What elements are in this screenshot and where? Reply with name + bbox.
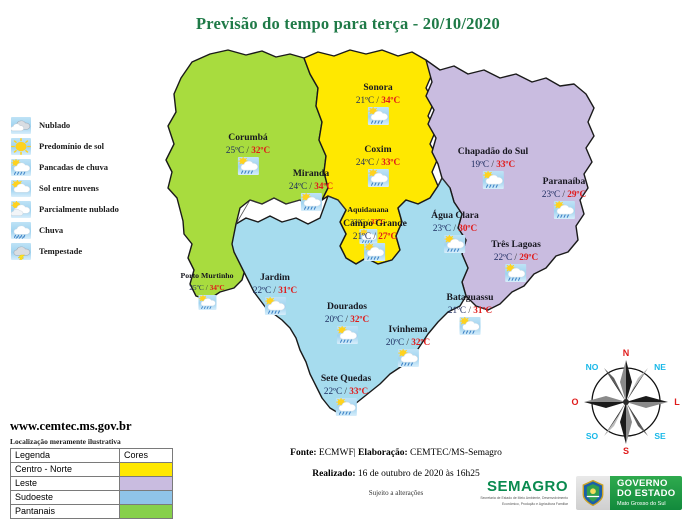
legend-label: Tempestade <box>39 246 82 256</box>
temp-separator: / <box>371 231 378 241</box>
legend-row-predom-nio-de-sol: Predomínio de sol <box>11 137 119 155</box>
cloudy-icon <box>11 117 31 134</box>
region-color-swatch <box>120 463 173 477</box>
city-temperatures: 21ºC / 34ºC <box>356 94 400 106</box>
temp-min: 24ºC <box>356 157 374 167</box>
weather-condition-legend: NubladoPredomínio de solPancadas de chuv… <box>11 116 119 260</box>
compass-label-o: O <box>571 397 578 407</box>
region-name-cell: Leste <box>11 477 120 491</box>
rain-showers-icon <box>198 295 216 310</box>
page-title: Previsão do tempo para terça - 20/10/202… <box>0 14 696 34</box>
elaboracao-value: CEMTEC/MS-Semagro <box>410 448 502 458</box>
city-forecast-porto-murtinho: Porto Murtinho25ºC / 34ºC <box>180 270 233 315</box>
legend-row-pancadas-de-chuva: Pancadas de chuva <box>11 158 119 176</box>
city-forecast-campo-grande: Campo Grande21ºC / 27ºC <box>343 218 407 266</box>
rain-showers-icon <box>482 171 503 189</box>
temp-min: 23ºC <box>542 189 560 199</box>
table-row: Pantanais <box>11 505 173 519</box>
temp-min: 21ºC <box>448 305 466 315</box>
legend-label: Predomínio de sol <box>39 141 104 151</box>
city-forecast-sete-quedas: Sete Quedas22ºC / 33ºC <box>321 373 371 421</box>
temp-min: 23ºC <box>433 223 451 233</box>
region-color-legend-table: LegendaCoresCentro - NorteLesteSudoesteP… <box>10 448 173 519</box>
realizado-value: 16 de outubro de 2020 às 16h25 <box>358 469 480 479</box>
city-name: Bataguassu <box>447 292 494 304</box>
temp-separator: / <box>512 252 519 262</box>
table-row: Leste <box>11 477 173 491</box>
temp-max: 34ºC <box>314 181 333 191</box>
city-name: Miranda <box>289 168 333 180</box>
city-temperatures: 23ºC / 29ºC <box>542 188 586 200</box>
city-name: Campo Grande <box>343 218 407 230</box>
city-temperatures: 25ºC / 34ºC <box>180 282 233 294</box>
city-forecast-tr-s-lagoas: Três Lagoas22ºC / 29ºC <box>491 239 541 287</box>
city-name: Jardim <box>253 272 297 284</box>
city-temperatures: 21ºC / 31ºC <box>447 304 494 316</box>
compass-label-n: N <box>623 348 630 358</box>
illustrative-location-note: Localização meramente ilustrativa <box>10 437 121 446</box>
rain-showers-icon <box>554 201 575 219</box>
city-temperatures: 21ºC / 27ºC <box>343 230 407 242</box>
rain-showers-icon <box>265 297 286 315</box>
governo-do-estado-logo: GOVERNO DO ESTADO Mato Grosso do Sul <box>576 476 682 510</box>
partly-cloudy-icon <box>11 201 31 218</box>
temp-max: 27ºC <box>378 231 397 241</box>
temp-max: 29ºC <box>567 189 586 199</box>
temp-min: 22ºC <box>324 386 342 396</box>
city-forecast--gua-clara: Água Clara23ºC / 30ºC <box>431 210 479 258</box>
temp-max: 34ºC <box>381 95 400 105</box>
city-temperatures: 22ºC / 31ºC <box>253 284 297 296</box>
compass-label-se: SE <box>654 431 666 441</box>
city-forecast-parana-ba: Paranaíba23ºC / 29ºC <box>542 176 586 224</box>
legend-row-chuva: Chuva <box>11 221 119 239</box>
city-temperatures: 25ºC / 32ºC <box>226 144 270 156</box>
elaboracao-label: Elaboração: <box>358 448 408 458</box>
temp-max: 32ºC <box>411 337 430 347</box>
city-name: Três Lagoas <box>491 239 541 251</box>
gov-line-3: Mato Grosso do Sul <box>617 500 675 508</box>
city-forecast-sonora: Sonora21ºC / 34ºC <box>356 82 400 130</box>
city-temperatures: 24ºC / 34ºC <box>289 180 333 192</box>
city-name: Dourados <box>325 301 369 313</box>
temp-min: 19ºC <box>471 159 489 169</box>
state-coat-of-arms-icon <box>576 476 610 510</box>
temp-min: 25ºC <box>189 283 204 292</box>
city-temperatures: 19ºC / 33ºC <box>458 158 528 170</box>
cemtec-website-url[interactable]: www.cemtec.ms.gov.br <box>10 419 132 434</box>
temp-max: 33ºC <box>496 159 515 169</box>
city-name: Paranaíba <box>542 176 586 188</box>
compass-label-s: S <box>623 446 629 456</box>
rain-showers-icon <box>364 243 385 261</box>
legend-label: Pancadas de chuva <box>39 162 108 172</box>
city-temperatures: 23ºC / 30ºC <box>431 222 479 234</box>
temp-max: 29ºC <box>519 252 538 262</box>
city-forecast-coxim: Coxim24ºC / 33ºC <box>356 144 400 192</box>
compass-label-l: L <box>674 397 680 407</box>
legend-row-tempestade: Tempestade <box>11 242 119 260</box>
temp-min: 22ºC <box>253 285 271 295</box>
city-temperatures: 22ºC / 29ºC <box>491 251 541 263</box>
compass-label-so: SO <box>586 431 599 441</box>
temp-max: 30ºC <box>458 223 477 233</box>
weather-forecast-map-page: Previsão do tempo para terça - 20/10/202… <box>0 0 696 521</box>
rain-showers-icon <box>368 169 389 187</box>
temp-max: 34ºC <box>210 283 225 292</box>
compass-label-ne: NE <box>654 362 666 372</box>
institution-logos: SEMAGRO Secretaria de Estado de Meio Amb… <box>476 470 690 516</box>
city-temperatures: 20ºC / 32ºC <box>386 336 430 348</box>
temp-min: 25ºC <box>226 145 244 155</box>
thunderstorm-icon <box>11 243 31 260</box>
city-name: Aquidauana <box>347 204 388 216</box>
temp-max: 33ºC <box>381 157 400 167</box>
city-name: Coxim <box>356 144 400 156</box>
source-credit: Fonte: ECMWF| Elaboração: CEMTEC/MS-Sema… <box>246 448 546 458</box>
temp-max: 32ºC <box>350 314 369 324</box>
city-name: Ivinhema <box>386 324 430 336</box>
city-forecast-ivinhema: Ivinhema20ºC / 32ºC <box>386 324 430 372</box>
semagro-subtitle: Secretaria de Estado de Meio Ambiente, D… <box>476 496 568 506</box>
city-forecast-jardim: Jardim22ºC / 31ºC <box>253 272 297 320</box>
city-name: Sete Quedas <box>321 373 371 385</box>
sunny-icon <box>11 138 31 155</box>
temp-min: 24ºC <box>289 181 307 191</box>
rain-showers-icon <box>444 235 465 253</box>
city-forecast-dourados: Dourados20ºC / 32ºC <box>325 301 369 349</box>
legend-label: Chuva <box>39 225 63 235</box>
rain-showers-icon <box>368 107 389 125</box>
region-color-swatch <box>120 505 173 519</box>
region-name-cell: Centro - Norte <box>11 463 120 477</box>
city-forecast-chapad-o-do-sul: Chapadão do Sul19ºC / 33ºC <box>458 146 528 194</box>
semagro-wordmark: SEMAGRO <box>487 479 568 494</box>
table-header-row: LegendaCores <box>11 449 173 463</box>
temp-separator: / <box>466 305 473 315</box>
temp-min: 20ºC <box>386 337 404 347</box>
legend-row-parcialmente-nublado: Parcialmente nublado <box>11 200 119 218</box>
mato-grosso-do-sul-map: Corumbá25ºC / 32ºCMiranda24ºC / 34ºCAqui… <box>150 48 610 420</box>
table-header-cell: Legenda <box>11 449 120 463</box>
gov-line-1: GOVERNO <box>617 479 675 489</box>
city-name: Água Clara <box>431 210 479 222</box>
rain-showers-icon <box>336 398 357 416</box>
rain-showers-icon <box>238 157 259 175</box>
fonte-label: Fonte: <box>290 448 316 458</box>
rain-showers-icon <box>11 159 31 176</box>
rain-showers-icon <box>506 264 527 282</box>
rain-showers-icon <box>398 349 419 367</box>
city-name: Chapadão do Sul <box>458 146 528 158</box>
temp-min: 22ºC <box>494 252 512 262</box>
temp-separator: / <box>451 223 458 233</box>
city-forecast-corumb-: Corumbá25ºC / 32ºC <box>226 132 270 180</box>
legend-row-sol-entre-nuvens: Sol entre nuvens <box>11 179 119 197</box>
city-forecast-miranda: Miranda24ºC / 34ºC <box>289 168 333 216</box>
rain-showers-icon <box>459 317 480 335</box>
temp-min: 20ºC <box>325 314 343 324</box>
city-name: Porto Murtinho <box>180 270 233 282</box>
rain-showers-icon <box>337 326 358 344</box>
temp-max: 32ºC <box>251 145 270 155</box>
legend-label: Parcialmente nublado <box>39 204 119 214</box>
fonte-value: ECMWF| <box>319 448 356 458</box>
city-temperatures: 20ºC / 32ºC <box>325 313 369 325</box>
temp-max: 33ºC <box>349 386 368 396</box>
city-temperatures: 22ºC / 33ºC <box>321 385 371 397</box>
table-header-cell: Cores <box>120 449 173 463</box>
sun-between-clouds-icon <box>11 180 31 197</box>
rain-icon <box>11 222 31 239</box>
city-forecast-bataguassu: Bataguassu21ºC / 31ºC <box>447 292 494 340</box>
temp-max: 31ºC <box>473 305 492 315</box>
region-color-swatch <box>120 491 173 505</box>
gov-line-2: DO ESTADO <box>617 489 675 499</box>
realizado-label: Realizado: <box>312 469 355 479</box>
city-name: Sonora <box>356 82 400 94</box>
region-name-cell: Pantanais <box>11 505 120 519</box>
legend-label: Sol entre nuvens <box>39 183 99 193</box>
city-name: Corumbá <box>226 132 270 144</box>
table-row: Centro - Norte <box>11 463 173 477</box>
temp-max: 31ºC <box>278 285 297 295</box>
compass-rose: N S O L NO NE SO SE <box>570 344 682 456</box>
temp-min: 21ºC <box>353 231 371 241</box>
region-color-swatch <box>120 477 173 491</box>
region-name-cell: Sudoeste <box>11 491 120 505</box>
semagro-logo: SEMAGRO Secretaria de Estado de Meio Amb… <box>476 479 568 506</box>
table-row: Sudoeste <box>11 491 173 505</box>
compass-label-no: NO <box>586 362 599 372</box>
rain-showers-icon <box>301 193 322 211</box>
legend-row-nublado: Nublado <box>11 116 119 134</box>
temp-min: 21ºC <box>356 95 374 105</box>
city-temperatures: 24ºC / 33ºC <box>356 156 400 168</box>
governo-text-block: GOVERNO DO ESTADO Mato Grosso do Sul <box>610 476 682 510</box>
legend-label: Nublado <box>39 120 70 130</box>
